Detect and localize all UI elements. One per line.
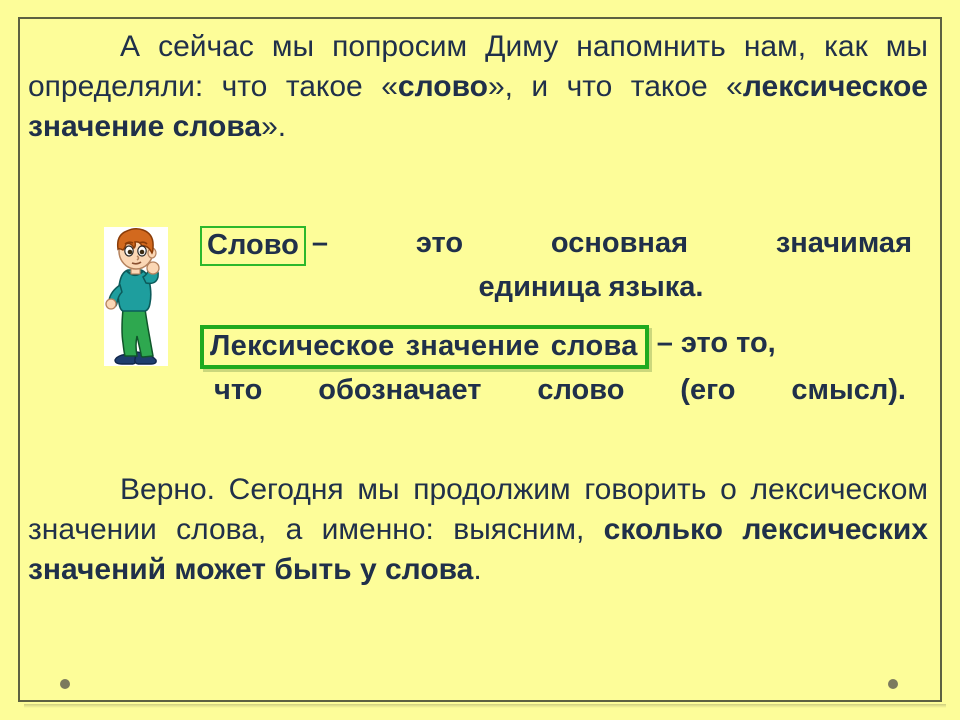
- intro-text-part3: ».: [261, 110, 286, 143]
- decor-dot-right: [888, 679, 898, 689]
- term-box-slovo: Слово: [200, 226, 306, 266]
- slide-frame-shadow: [24, 704, 946, 708]
- intro-text-part2: », и что такое «: [488, 70, 743, 103]
- definition-lexical-line1-rest: – это то,: [657, 327, 776, 359]
- definition-lexical-line2: что обозначает слово (его смысл).: [200, 369, 906, 411]
- definition-word-line1-rest: – это основная значимая: [312, 227, 912, 259]
- closing-paragraph: Верно. Сегодня мы продолжим говорить о л…: [28, 470, 928, 590]
- term-box-lexical-meaning: Лексическоезначениеслова: [200, 325, 649, 369]
- definition-word-line2: единица языка.: [200, 266, 912, 308]
- term-lexical-part1: Лексическое: [210, 330, 395, 362]
- decor-dot-left: [60, 679, 70, 689]
- definition-lexical-block: Лексическоезначениеслова– это то, что об…: [200, 322, 916, 411]
- intro-paragraph: А сейчас мы попросим Диму напомнить нам,…: [28, 27, 928, 147]
- thinking-boy-icon: [104, 227, 168, 366]
- term-lexical-part3: слова: [551, 330, 638, 362]
- definition-lexical-line1: Лексическоезначениеслова– это то,: [200, 322, 916, 369]
- intro-bold-slovo: слово: [398, 70, 488, 103]
- closing-text-part2: .: [473, 553, 481, 586]
- slide-canvas: А сейчас мы попросим Диму напомнить нам,…: [0, 0, 960, 720]
- definition-word-line1: Слово– это основная значимая: [200, 222, 912, 266]
- definition-word-block: Слово– это основная значимая единица язы…: [200, 222, 912, 308]
- term-lexical-part2: значение: [406, 330, 540, 362]
- thinking-boy-illustration: [104, 227, 168, 366]
